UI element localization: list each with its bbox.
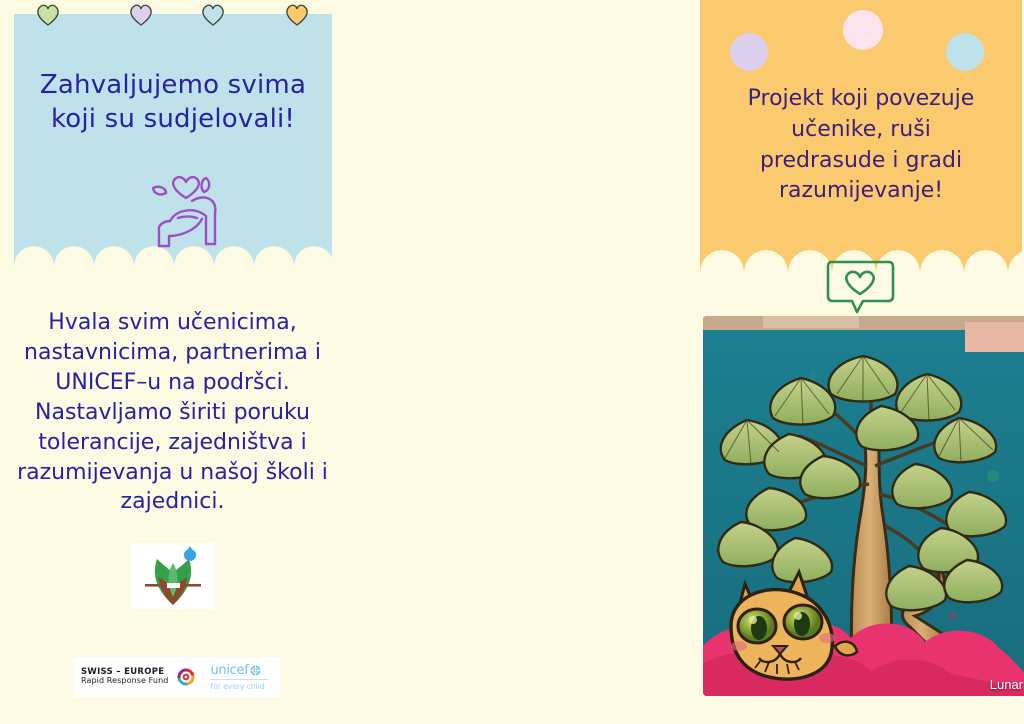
thanks-body-line-4: tolerancije, zajedništva i xyxy=(10,428,335,458)
thanks-body-line-6: zajednici. xyxy=(10,487,335,517)
swiss-europe-line2: Rapid Response Fund xyxy=(81,677,168,686)
thanks-body-line-0: Hvala svim učenicima, xyxy=(10,308,335,338)
unicef-tagline: for every child xyxy=(210,682,264,691)
hands-holding-heart-icon xyxy=(140,164,232,252)
swiss-europe-swirl-icon xyxy=(175,666,197,688)
thank-you-heading-line2: koji su sudjelovali! xyxy=(14,102,332,136)
brochure-page: Zahvaljujemo svima koji su sudjelovali! … xyxy=(0,0,1024,724)
thank-you-heading: Zahvaljujemo svima koji su sudjelovali! xyxy=(14,68,332,137)
heart-purple-icon xyxy=(128,3,154,27)
thanks-body-line-5: razumijevanja u našoj školi i xyxy=(10,458,335,488)
swiss-europe-logo: SWISS – EUROPE Rapid Response Fund xyxy=(73,666,197,688)
unicef-divider xyxy=(210,679,268,680)
thank-you-heading-line1: Zahvaljujemo svima xyxy=(14,68,332,102)
panel-right: Agronomska škola Zagreb “Poticajan, uklj… xyxy=(690,0,1024,724)
heart-green-icon xyxy=(35,3,61,27)
unicef-wordmark: unicef xyxy=(210,663,248,678)
school-logo-left xyxy=(131,543,215,609)
thanks-body-line-1: nastavnicima, partnerima i xyxy=(10,338,335,368)
heart-yellow-icon xyxy=(284,3,310,27)
thanks-body-text: Hvala svim učenicima, nastavnicima, part… xyxy=(10,308,335,517)
partner-logos-strip-left: SWISS – EUROPE Rapid Response Fund unice… xyxy=(73,657,280,697)
unicef-globe-icon xyxy=(250,665,261,676)
panel-middle: Projekt koji povezuje učenike, ruši pred… xyxy=(345,0,690,724)
thanks-body-line-3: Nastavljamo širiti poruku xyxy=(10,398,335,428)
unicef-logo-left: unicef for every child xyxy=(197,663,268,691)
thanks-body-line-2: UNICEF–u na podršci. xyxy=(10,368,335,398)
heart-blue-icon xyxy=(200,3,226,27)
school-leaf-logo-icon xyxy=(131,543,215,609)
panel-left: Zahvaljujemo svima koji su sudjelovali! … xyxy=(0,0,345,724)
